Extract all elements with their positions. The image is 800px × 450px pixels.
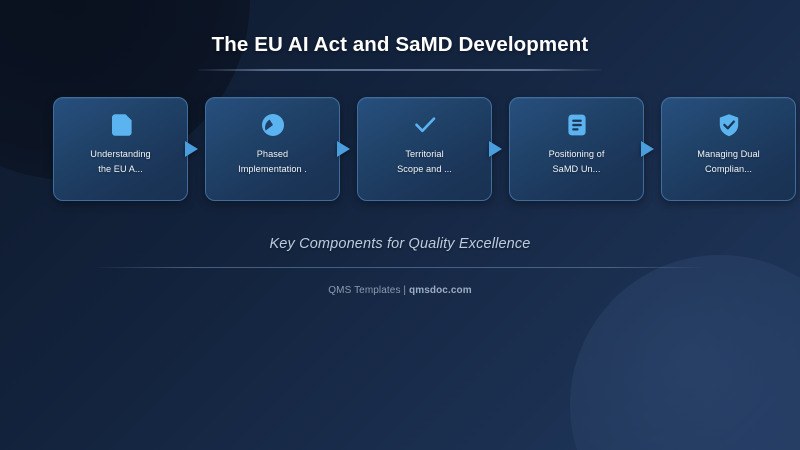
list-document-icon <box>562 110 592 140</box>
flow-card-1[interactable]: Understanding the EU A... <box>53 97 188 201</box>
flow-card-5-text: Managing Dual Complian... <box>691 147 765 177</box>
pie-chart-icon <box>258 110 288 140</box>
footer-divider <box>98 267 702 268</box>
card-wrapper-1: Understanding the EU A... <box>53 97 188 201</box>
flow-card-3-text: Territorial Scope and ... <box>391 147 458 177</box>
card-wrapper-5: Managing Dual Complian... <box>661 97 796 201</box>
flow-arrow-1 <box>185 141 198 157</box>
footer: QMS Templates | qmsdoc.com <box>0 285 800 296</box>
flow-arrow-3 <box>489 141 502 157</box>
flow-card-4-text: Positioning of SaMD Un... <box>543 147 611 177</box>
slide-content: The EU AI Act and SaMD Development Under… <box>0 0 800 450</box>
card-wrapper-4: Positioning of SaMD Un... <box>509 97 644 201</box>
footer-prefix: QMS Templates | <box>328 285 409 296</box>
flow-card-5-line1: Managing Dual <box>697 147 759 162</box>
flow-card-5-line2: Complian... <box>697 162 759 177</box>
checkmark-icon <box>410 110 440 140</box>
flow-card-4-line2: SaMD Un... <box>549 162 605 177</box>
flow-card-3-line1: Territorial <box>397 147 452 162</box>
slide-canvas: The EU AI Act and SaMD Development Under… <box>0 0 800 450</box>
flow-arrow-2 <box>337 141 350 157</box>
footer-brand: qmsdoc.com <box>409 285 472 296</box>
card-wrapper-3: Territorial Scope and ... <box>357 97 492 201</box>
flow-arrow-4 <box>641 141 654 157</box>
flow-card-2[interactable]: Phased Implementation . <box>205 97 340 201</box>
shield-check-icon <box>714 110 744 140</box>
card-wrapper-2: Phased Implementation . <box>205 97 340 201</box>
flow-card-2-line2: Implementation . <box>238 162 307 177</box>
flow-card-1-line1: Understanding <box>90 147 150 162</box>
flow-card-5[interactable]: Managing Dual Complian... <box>661 97 796 201</box>
flow-card-4[interactable]: Positioning of SaMD Un... <box>509 97 644 201</box>
flow-card-4-line1: Positioning of <box>549 147 605 162</box>
process-flow-cards: Understanding the EU A... P <box>53 97 747 201</box>
flow-card-2-text: Phased Implementation . <box>232 147 313 177</box>
document-icon <box>106 110 136 140</box>
flow-card-3[interactable]: Territorial Scope and ... <box>357 97 492 201</box>
flow-card-1-line2: the EU A... <box>90 162 150 177</box>
flow-card-3-line2: Scope and ... <box>397 162 452 177</box>
flow-card-1-text: Understanding the EU A... <box>84 147 156 177</box>
flow-card-2-line1: Phased <box>238 147 307 162</box>
subtitle: Key Components for Quality Excellence <box>0 236 800 252</box>
title-divider <box>198 69 602 71</box>
page-title: The EU AI Act and SaMD Development <box>0 33 800 57</box>
